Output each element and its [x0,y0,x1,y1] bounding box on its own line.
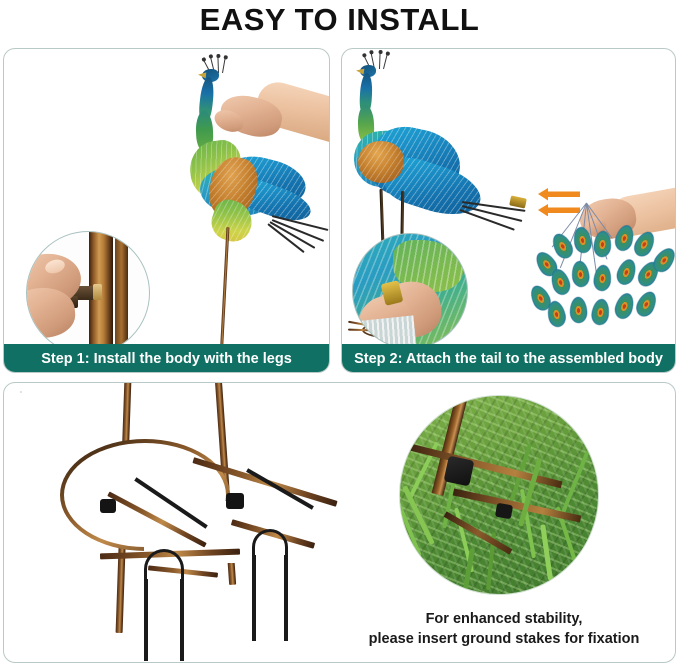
inset-white-ribs [362,315,417,344]
stability-note: For enhanced stability, please insert gr… [344,609,664,649]
ground-stake-right [252,529,288,639]
grass-blade-front [540,524,553,580]
peacock-crest-icon [383,54,388,69]
tail-feather [571,260,591,288]
step2-clip-inset [352,233,468,344]
stake-connector-hub [495,503,513,520]
grass-closeup-circle [399,395,599,595]
ground-stake-left [144,549,184,659]
stake-connector-hub [444,456,475,487]
stake-strut [246,468,314,509]
page-title: EASY TO INSTALL [0,2,679,38]
step2-caption: Step 2: Attach the tail to the assembled… [341,344,676,373]
stability-note-line2: please insert ground stakes for fixation [344,629,664,649]
grass-stake-inset [20,391,22,393]
peacock-beak [198,72,207,79]
step2-caption-text: Step 2: Attach the tail to the assembled… [354,351,663,367]
step1-caption: Step 1: Install the body with the legs [3,344,330,373]
stake-hub [226,493,244,509]
panel-step-1: Step 1: Install the body with the legs [3,48,330,373]
tail-feather [590,298,610,326]
tail-feather [570,297,588,324]
grass-blade [558,451,589,521]
inserted-stake-rod [453,489,582,523]
tail-feather [612,291,636,321]
peacock-crest-icon [379,53,381,69]
step2-photo [342,49,675,344]
step1-caption-text: Step 1: Install the body with the legs [41,351,292,367]
grass-blade-front [402,485,435,545]
peacock-crest-icon [222,58,226,73]
peacock-tail-socket [509,195,527,208]
screw-highlight [93,284,102,300]
peacock-beak [356,67,365,74]
panel-step-2: Step 2: Attach the tail to the assembled… [341,48,676,373]
tail-feather [614,257,639,287]
inset-leg-pole-back [115,231,128,344]
tail-feather [545,300,567,329]
step1-screw-inset [26,231,150,344]
panel-ground-stakes: For enhanced stability, please insert gr… [3,382,676,663]
peacock-leg-rod [220,227,230,344]
stability-note-line1: For enhanced stability, [344,609,664,629]
tail-feather [631,229,658,260]
tail-feather [633,289,660,320]
step1-photo [4,49,329,344]
install-instruction-graphic: EASY TO INSTALL [0,0,679,669]
peacock-tail-assembly [532,199,675,339]
stake-hub [100,499,116,513]
tail-feather [613,223,637,253]
